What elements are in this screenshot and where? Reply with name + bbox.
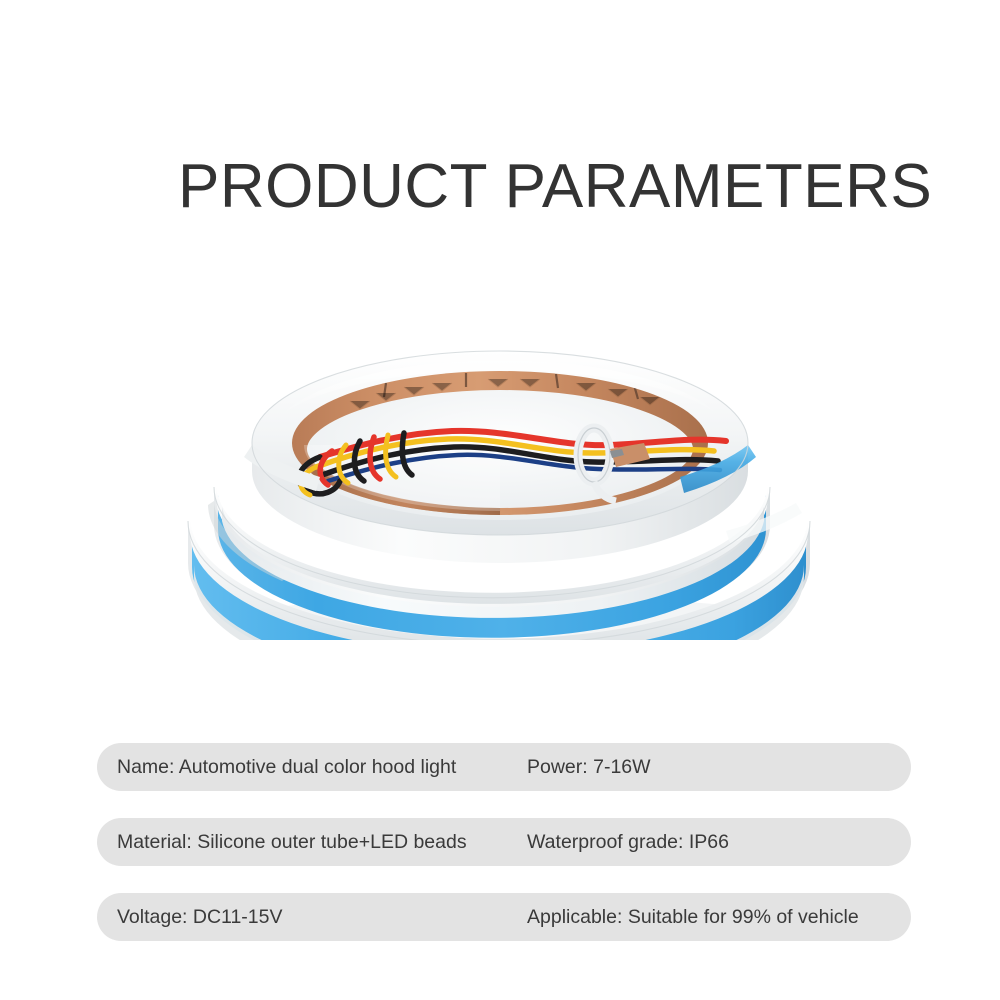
spec-material-label: Material: Silicone outer tube+LED beads — [117, 818, 467, 866]
spec-voltage-label: Voltage: DC11-15V — [117, 893, 283, 941]
spec-waterproof-label: Waterproof grade: IP66 — [527, 818, 729, 866]
specification-list: Name: Automotive dual color hood light P… — [97, 743, 911, 941]
product-parameters-page: PRODUCT PARAMETERS — [0, 0, 1000, 1000]
page-title: PRODUCT PARAMETERS — [178, 152, 838, 222]
spec-applicable-label: Applicable: Suitable for 99% of vehicle — [527, 893, 859, 941]
spec-row: Voltage: DC11-15V Applicable: Suitable f… — [97, 893, 911, 941]
spec-row: Material: Silicone outer tube+LED beads … — [97, 818, 911, 866]
spec-name-label: Name: Automotive dual color hood light — [117, 743, 456, 791]
spec-power-label: Power: 7-16W — [527, 743, 651, 791]
product-image-coiled-led-strip — [170, 325, 830, 640]
spec-row: Name: Automotive dual color hood light P… — [97, 743, 911, 791]
